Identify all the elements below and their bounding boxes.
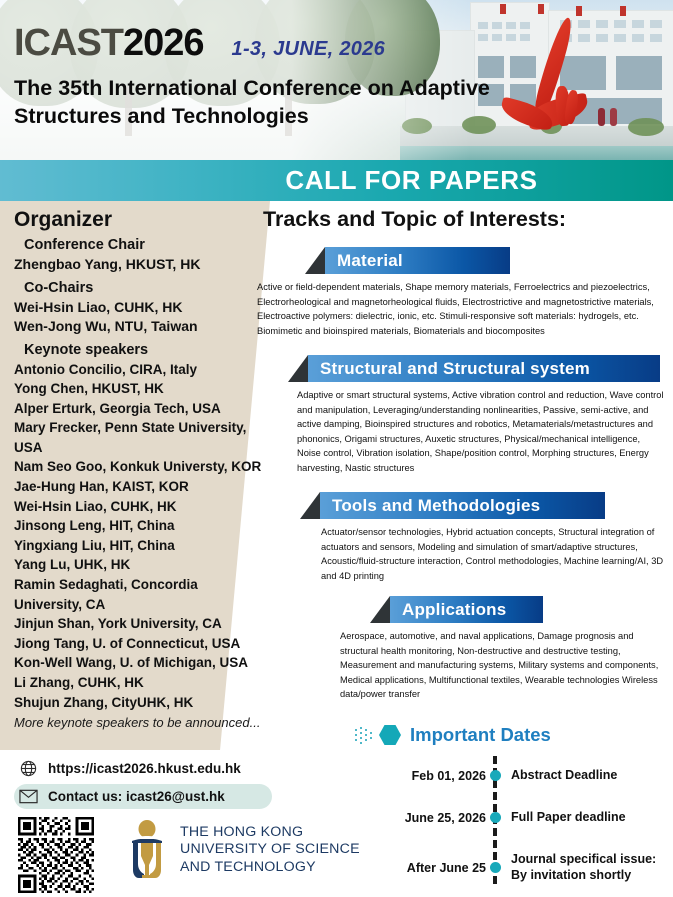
- organizer-section: Organizer Conference Chair Zhengbao Yang…: [14, 208, 264, 730]
- conference-subtitle: The 35th International Conference on Ada…: [14, 74, 494, 130]
- contact-section: https://icast2026.hkust.edu.hk Contact u…: [14, 756, 314, 809]
- poster-header: ICAST 2026 1-3, JUNE, 2026 The 35th Inte…: [0, 0, 673, 160]
- conference-chair-name: Zhengbao Yang, HKUST, HK: [14, 255, 264, 275]
- globe-icon: [14, 759, 42, 778]
- conference-poster: ICAST 2026 1-3, JUNE, 2026 The 35th Inte…: [0, 0, 673, 897]
- brand-icast: ICAST: [14, 22, 123, 65]
- more-speakers-note: More keynote speakers to be announced...: [14, 715, 264, 730]
- hkust-emblem-icon: [124, 820, 170, 880]
- track-structural: Structural and Structural system Adaptiv…: [288, 355, 660, 476]
- email-address: Contact us: icast26@ust.hk: [48, 789, 225, 804]
- track-material: Material Active or field-dependent mater…: [305, 247, 657, 338]
- banner-triangle-icon: [305, 247, 325, 274]
- keynote-speaker: Li Zhang, CUHK, HK: [14, 673, 264, 693]
- date-row: After June 25 Journal specifical issue: …: [355, 852, 673, 883]
- keynote-speaker: Jinjun Shan, York University, CA: [14, 614, 264, 634]
- brand-year: 2026: [123, 22, 204, 65]
- track-label: Structural and Structural system: [320, 359, 590, 379]
- date-event: Full Paper deadline: [511, 810, 626, 826]
- co-chair-name: Wen-Jong Wu, NTU, Taiwan: [14, 317, 264, 337]
- hkust-name: THE HONG KONG UNIVERSITY OF SCIENCE AND …: [180, 824, 360, 877]
- date-value: After June 25: [355, 861, 486, 875]
- keynote-speaker: Yang Lu, UHK, HK: [14, 555, 264, 575]
- banner-triangle-icon: [288, 355, 308, 382]
- website-row[interactable]: https://icast2026.hkust.edu.hk: [14, 756, 314, 781]
- keynote-speaker: Shujun Zhang, CityUHK, HK: [14, 693, 264, 713]
- keynote-speaker: Yong Chen, HKUST, HK: [14, 379, 264, 399]
- co-chairs-label: Co-Chairs: [24, 280, 264, 296]
- track-topics: Actuator/sensor technologies, Hybrid act…: [321, 525, 673, 583]
- important-dates-header: Important Dates: [355, 722, 673, 748]
- keynote-speaker: Alper Erturk, Georgia Tech, USA: [14, 399, 264, 419]
- date-row: June 25, 2026 Full Paper deadline: [355, 810, 673, 826]
- tracks-heading: Tracks and Topic of Interests:: [263, 207, 566, 232]
- track-tools: Tools and Methodologies Actuator/sensor …: [300, 492, 660, 583]
- website-url: https://icast2026.hkust.edu.hk: [48, 761, 241, 776]
- keynote-speaker: Wei-Hsin Liao, CUHK, HK: [14, 497, 264, 517]
- keynote-speaker: Jiong Tang, U. of Connecticut, USA: [14, 634, 264, 654]
- keynote-speaker: Nam Seo Goo, Konkuk Universty, KOR: [14, 457, 264, 477]
- keynote-speaker: Mary Frecker, Penn State University, USA: [14, 418, 264, 457]
- date-value: Feb 01, 2026: [355, 769, 486, 783]
- date-event: Journal specifical issue: By invitation …: [511, 852, 656, 883]
- keynote-speaker: Ramin Sedaghati, Concordia University, C…: [14, 575, 264, 614]
- conference-chair-label: Conference Chair: [24, 237, 264, 253]
- track-banner: Structural and Structural system: [288, 355, 660, 382]
- track-topics: Active or field-dependent materials, Sha…: [257, 280, 657, 338]
- hkust-line-1: THE HONG KONG: [180, 824, 360, 842]
- date-value: June 25, 2026: [355, 811, 486, 825]
- banner-triangle-icon: [300, 492, 320, 519]
- track-label: Tools and Methodologies: [332, 496, 540, 516]
- track-label: Applications: [402, 600, 506, 620]
- important-dates-title: Important Dates: [410, 724, 551, 746]
- timeline-dot-icon: [490, 862, 501, 873]
- keynote-speaker: Kon-Well Wang, U. of Michigan, USA: [14, 653, 264, 673]
- conference-dates: 1-3, JUNE, 2026: [232, 38, 385, 61]
- dot-matrix-icon: [355, 726, 377, 744]
- keynote-speakers-label: Keynote speakers: [24, 342, 264, 358]
- date-row: Feb 01, 2026 Abstract Deadline: [355, 768, 673, 784]
- hkust-line-2: UNIVERSITY OF SCIENCE: [180, 841, 360, 859]
- dates-timeline: Feb 01, 2026 Abstract Deadline June 25, …: [355, 756, 673, 884]
- track-title-bar: Applications: [390, 596, 543, 623]
- keynote-speaker: Antonio Concilio, CIRA, Italy: [14, 360, 264, 380]
- track-banner: Applications: [370, 596, 670, 623]
- track-banner: Material: [305, 247, 657, 274]
- track-topics: Aerospace, automotive, and naval applica…: [340, 629, 670, 702]
- timeline-dot-icon: [490, 812, 501, 823]
- date-event: Abstract Deadline: [511, 768, 617, 784]
- track-applications: Applications Aerospace, automotive, and …: [370, 596, 670, 702]
- track-banner: Tools and Methodologies: [300, 492, 660, 519]
- track-topics: Adaptive or smart structural systems, Ac…: [297, 388, 665, 476]
- poster-title: ICAST 2026 1-3, JUNE, 2026: [14, 22, 385, 65]
- timeline-dot-icon: [490, 770, 501, 781]
- track-title-bar: Structural and Structural system: [308, 355, 660, 382]
- track-title-bar: Material: [325, 247, 510, 274]
- email-row[interactable]: Contact us: icast26@ust.hk: [14, 784, 272, 809]
- envelope-icon: [14, 789, 42, 804]
- keynote-speaker: Yingxiang Liu, HIT, China: [14, 536, 264, 556]
- call-for-papers-label: CALL FOR PAPERS: [285, 165, 537, 196]
- hexagon-icon: [379, 725, 401, 745]
- important-dates-section: Important Dates Feb 01, 2026 Abstract De…: [355, 722, 673, 884]
- track-label: Material: [337, 251, 403, 271]
- keynote-speaker: Jae-Hung Han, KAIST, KOR: [14, 477, 264, 497]
- co-chair-name: Wei-Hsin Liao, CUHK, HK: [14, 298, 264, 318]
- organizer-heading: Organizer: [14, 208, 264, 232]
- track-title-bar: Tools and Methodologies: [320, 492, 605, 519]
- hkust-logo: THE HONG KONG UNIVERSITY OF SCIENCE AND …: [124, 820, 360, 880]
- call-for-papers-banner: CALL FOR PAPERS: [0, 160, 673, 201]
- banner-triangle-icon: [370, 596, 390, 623]
- qr-code[interactable]: [18, 817, 94, 893]
- hkust-line-3: AND TECHNOLOGY: [180, 859, 360, 877]
- keynote-speaker: Jinsong Leng, HIT, China: [14, 516, 264, 536]
